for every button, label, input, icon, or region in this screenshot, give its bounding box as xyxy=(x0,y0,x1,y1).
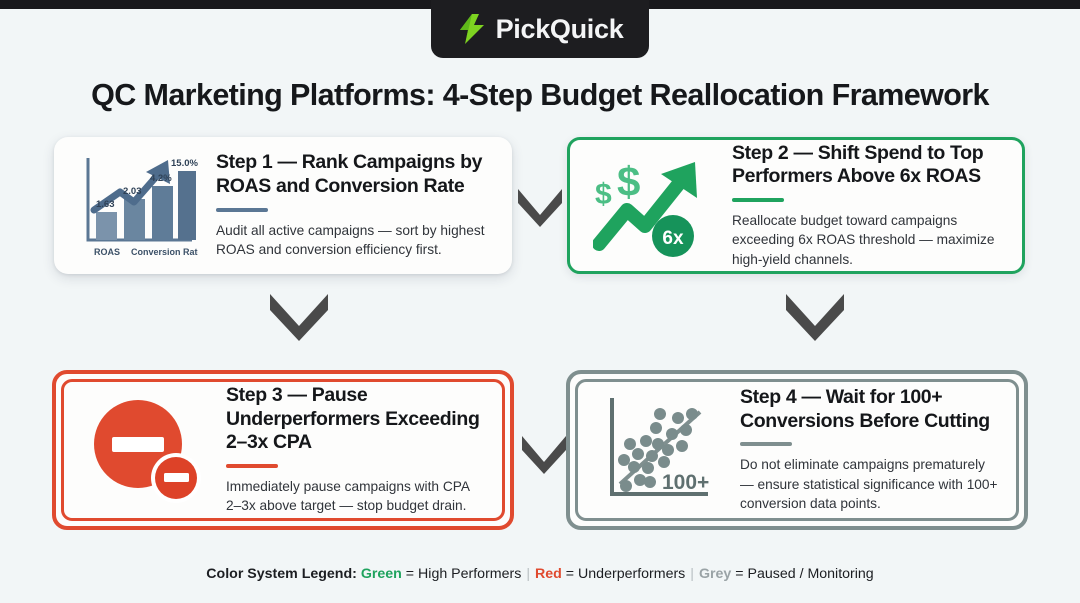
chevron-down-icon-4 xyxy=(518,430,570,480)
chevron-down-icon-2 xyxy=(266,290,332,347)
step-card-2-accent-rule xyxy=(732,198,784,202)
step-card-3[interactable]: Step 3 — Pause Underperformers Exceeding… xyxy=(52,370,514,530)
svg-text:$: $ xyxy=(617,158,640,205)
svg-text:15.0%: 15.0% xyxy=(171,158,198,169)
chevron-down-icon-1 xyxy=(514,183,566,233)
bar-chart-growth-icon: 1.63 2.03 4.2% 15.0% ROAS Conversion Rat… xyxy=(72,152,200,260)
step-card-2-title: Step 2 — Shift Spend to Top Performers A… xyxy=(732,142,1004,189)
step-card-4-description: Do not eliminate campaigns prematurely —… xyxy=(740,455,998,513)
dollar-growth-arrow-icon: $ $ 6x xyxy=(588,152,716,260)
conversions-badge-value: 100+ xyxy=(662,471,709,494)
legend-swatch-green: Green xyxy=(361,566,402,582)
legend-swatch-grey: Grey xyxy=(699,566,731,582)
svg-text:$: $ xyxy=(595,178,612,211)
step-card-3-title: Step 3 — Pause Underperformers Exceeding… xyxy=(226,384,484,455)
step-card-2[interactable]: $ $ 6x Step 2 — Shift Spend to Top Perfo… xyxy=(567,137,1025,274)
step-card-2-description: Reallocate budget toward campaigns excee… xyxy=(732,211,1004,269)
pause-stop-circle-icon xyxy=(82,394,210,506)
brand-logo-badge: PickQuick xyxy=(431,0,649,58)
scatter-plot-icon: 100+ xyxy=(596,394,724,506)
step-card-1[interactable]: 1.63 2.03 4.2% 15.0% ROAS Conversion Rat… xyxy=(54,137,512,274)
legend-meaning-grey: Paused / Monitoring xyxy=(748,566,874,582)
svg-text:ROAS: ROAS xyxy=(94,247,120,257)
legend-eq-3: = xyxy=(735,566,743,582)
step-card-4[interactable]: 100+ Step 4 — Wait for 100+ Conversions … xyxy=(566,370,1028,530)
roas-badge-value: 6x xyxy=(662,228,684,249)
svg-text:2.03: 2.03 xyxy=(123,186,142,197)
step-card-3-accent-rule xyxy=(226,464,278,468)
step-card-4-title: Step 4 — Wait for 100+ Conversions Befor… xyxy=(740,386,998,433)
lightning-bolt-icon xyxy=(457,13,487,45)
legend-separator-1: | xyxy=(526,566,530,582)
chevron-down-icon-3 xyxy=(782,290,848,347)
legend-eq-2: = xyxy=(566,566,574,582)
svg-text:1.63: 1.63 xyxy=(96,199,115,210)
legend-separator-2: | xyxy=(690,566,694,582)
step-card-1-description: Audit all active campaigns — sort by hig… xyxy=(216,221,494,260)
page-title: QC Marketing Platforms: 4-Step Budget Re… xyxy=(0,78,1080,113)
legend-meaning-red: Underperformers xyxy=(578,566,685,582)
legend-meaning-green: High Performers xyxy=(418,566,521,582)
step-card-1-title: Step 1 — Rank Campaigns by ROAS and Conv… xyxy=(216,151,494,198)
step-card-3-description: Immediately pause campaigns with CPA 2–3… xyxy=(226,477,484,516)
brand-name: PickQuick xyxy=(496,14,624,45)
svg-text:Conversion Rate: Conversion Rate xyxy=(131,247,198,257)
color-system-legend: Color System Legend: Green = High Perfor… xyxy=(0,566,1080,582)
legend-eq-1: = xyxy=(406,566,414,582)
step-card-1-accent-rule xyxy=(216,208,268,212)
svg-text:4.2%: 4.2% xyxy=(150,173,172,184)
legend-label: Color System Legend: xyxy=(206,566,357,582)
legend-swatch-red: Red xyxy=(535,566,562,582)
step-card-4-accent-rule xyxy=(740,442,792,446)
